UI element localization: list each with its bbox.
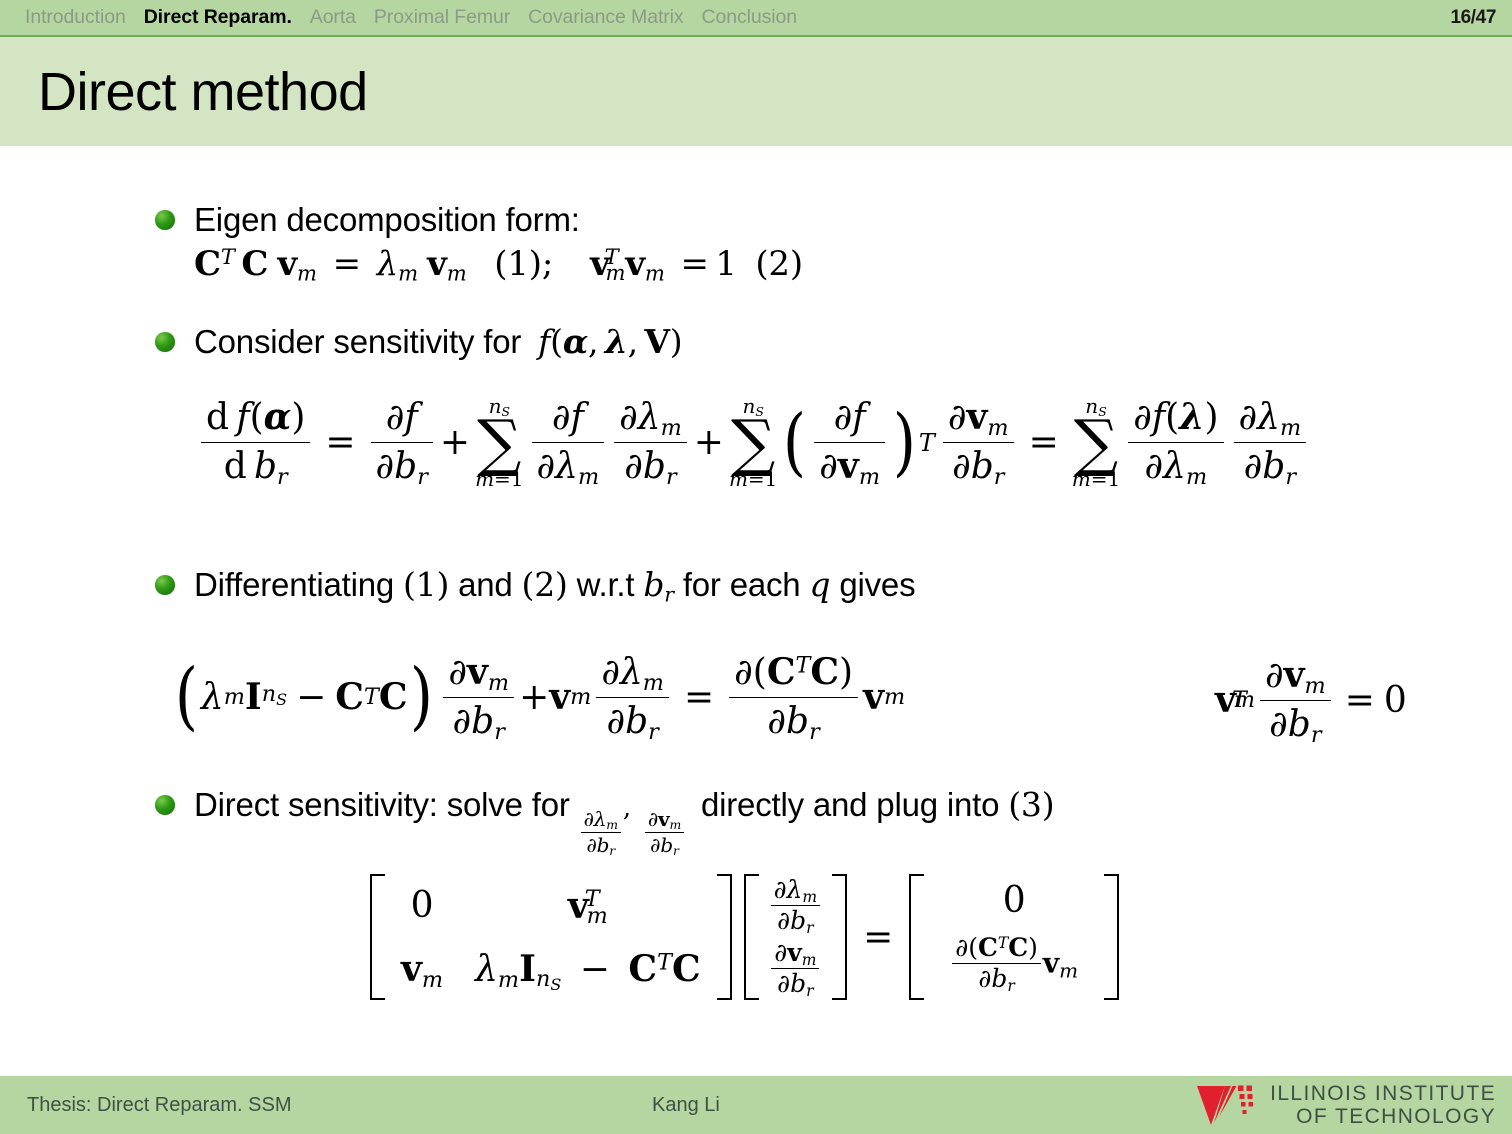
nav-item-introduction[interactable]: Introduction	[16, 6, 135, 29]
text-for-each: for each	[683, 566, 801, 603]
bullet-consider-sensitivity: Consider sensitivity for f(α, λ, V)	[155, 323, 682, 362]
text-plug-into: directly and plug into	[701, 786, 999, 823]
inline-frac-dlambda-db: ∂λm ∂br	[581, 808, 621, 856]
ref-equation-3: (3)	[1008, 785, 1054, 824]
page-title: Direct method	[38, 61, 368, 123]
bullet-direct-sensitivity: Direct sensitivity: solve for ∂λm ∂br , …	[155, 786, 1054, 856]
iit-triangle-icon	[1195, 1083, 1257, 1127]
nav-item-proximal-femur[interactable]: Proximal Femur	[365, 6, 519, 29]
bullet-dot-icon	[155, 575, 175, 595]
nav-item-list: Introduction Direct Reparam. Aorta Proxi…	[16, 6, 806, 29]
text-and: and	[458, 566, 512, 603]
bracket-left	[370, 874, 385, 1000]
bullet-dot-icon	[155, 210, 175, 230]
logo-line-1: ILLINOIS INSTITUTE	[1270, 1082, 1496, 1105]
page-number-indicator: 16/47	[1450, 7, 1496, 29]
bracket-left	[744, 874, 759, 1000]
inline-math-f-alpha-lambda-V: f(α, λ, V)	[538, 323, 682, 360]
matrix-unknowns: ∂λm ∂br ∂vm ∂br	[744, 874, 848, 1000]
footer-author: Kang Li	[652, 1094, 720, 1117]
bracket-right	[717, 874, 732, 1000]
bullet-text-consider: Consider sensitivity for	[194, 323, 521, 360]
nav-item-aorta[interactable]: Aorta	[301, 6, 365, 29]
logo-line-2: OF TECHNOLOGY	[1270, 1105, 1496, 1128]
equation-eigen-decomposition: CT C vm = λm vm (1); vTmvm = 1 (2)	[194, 244, 803, 284]
bracket-right	[832, 874, 847, 1000]
equation-constraint: vTm ∂vm ∂br = 0	[1215, 654, 1407, 747]
nav-item-conclusion[interactable]: Conclusion	[693, 6, 806, 29]
equation-block-system: 0 vTm vm λmInS − CTC	[370, 874, 1119, 1000]
slide-footer: Thesis: Direct Reparam. SSM Kang Li ILLI…	[0, 1076, 1512, 1134]
bullet-differentiating: Differentiating (1) and (2) w.r.t br for…	[155, 566, 915, 605]
text-wrt: w.r.t	[577, 566, 635, 603]
bullet-eigen-decomposition: Eigen decomposition form: CT C vm = λm v…	[155, 201, 803, 284]
footer-presentation-title: Thesis: Direct Reparam. SSM	[27, 1094, 292, 1117]
top-navigation-bar: Introduction Direct Reparam. Aorta Proxi…	[0, 0, 1512, 37]
bracket-right	[1104, 874, 1119, 1000]
bullet-dot-icon	[155, 795, 175, 815]
inline-frac-dv-db: ∂vm ∂br	[645, 808, 684, 856]
nav-item-covariance-matrix[interactable]: Covariance Matrix	[519, 6, 692, 29]
institution-logo: ILLINOIS INSTITUTE OF TECHNOLOGY	[1195, 1082, 1496, 1128]
slide-title-band: Direct method	[0, 37, 1512, 146]
var-q: q	[809, 565, 830, 604]
text-gives: gives	[839, 566, 915, 603]
institution-name: ILLINOIS INSTITUTE OF TECHNOLOGY	[1270, 1082, 1496, 1128]
text-differentiating: Differentiating	[194, 566, 394, 603]
ref-equation-1: (1)	[403, 565, 449, 604]
matrix-coefficients: 0 vTm vm λmInS − CTC	[370, 874, 732, 1000]
bullet-text-eigen: Eigen decomposition form:	[194, 201, 803, 240]
bullet-dot-icon	[155, 332, 175, 352]
ref-equation-2: (2)	[522, 565, 568, 604]
equation-chain-rule: d f(α) d br = ∂f ∂br + nS ∑ m=1 ∂f ∂λm ∂…	[196, 396, 1311, 489]
nav-item-direct-reparam[interactable]: Direct Reparam.	[135, 6, 301, 29]
bracket-left	[909, 874, 924, 1000]
matrix-rhs: 0 ∂(CTC) ∂br vm	[909, 874, 1119, 1000]
var-br: br	[643, 566, 674, 603]
equation-derivative-system: ( λmInS − CTC ) ∂vm ∂br + vm ∂λm ∂br = ∂…	[172, 651, 905, 744]
text-direct-sensitivity: Direct sensitivity: solve for	[194, 786, 570, 823]
slide-content: Eigen decomposition form: CT C vm = λm v…	[0, 146, 1512, 1076]
